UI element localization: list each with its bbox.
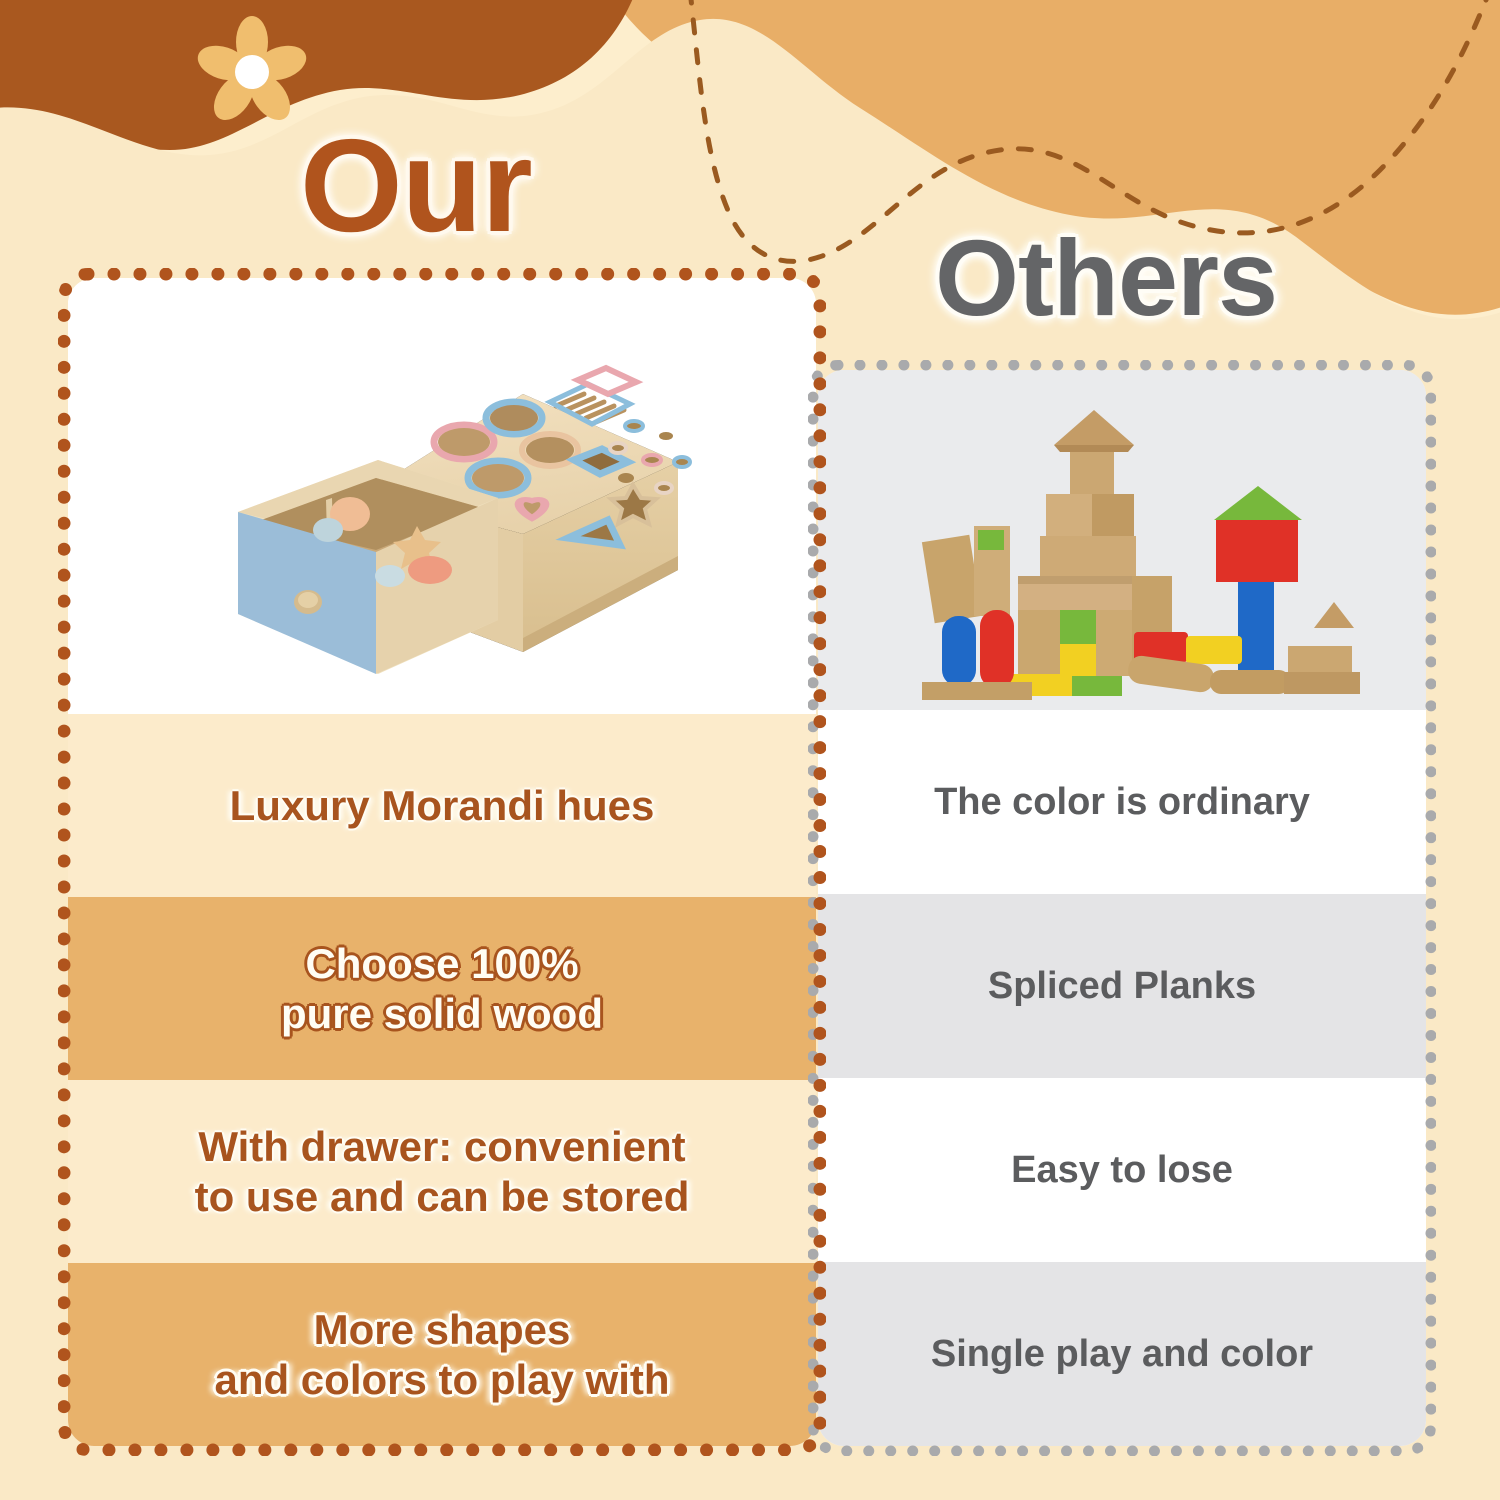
our-feature-row-1: Luxury Morandi hues — [68, 714, 816, 897]
flower-icon — [193, 16, 310, 127]
page-title-others: Others — [935, 215, 1277, 340]
our-feature-rows: Luxury Morandi hues Choose 100% pure sol… — [68, 714, 816, 1446]
our-feature-row-4: More shapes and colors to play with — [68, 1263, 816, 1446]
infographic-root: Our Others — [0, 0, 1500, 1500]
others-feature-row-2: Spliced Planks — [818, 894, 1426, 1078]
others-feature-row-4: Single play and color — [818, 1262, 1426, 1446]
others-feature-row-1: The color is ordinary — [818, 710, 1426, 894]
others-feature-row-3: Easy to lose — [818, 1078, 1426, 1262]
others-feature-rows: The color is ordinary Spliced Planks Eas… — [818, 710, 1426, 1446]
building-blocks-illustration — [818, 370, 1426, 710]
others-product-panel: The color is ordinary Spliced Planks Eas… — [818, 370, 1426, 1446]
our-product-image — [68, 278, 816, 714]
page-title-our: Our — [300, 110, 532, 261]
our-product-panel: Luxury Morandi hues Choose 100% pure sol… — [68, 278, 816, 1446]
shape-sorter-box-illustration — [178, 302, 718, 702]
our-feature-row-3: With drawer: convenient to use and can b… — [68, 1080, 816, 1263]
others-product-image — [818, 370, 1426, 710]
our-feature-row-2: Choose 100% pure solid wood — [68, 897, 816, 1080]
